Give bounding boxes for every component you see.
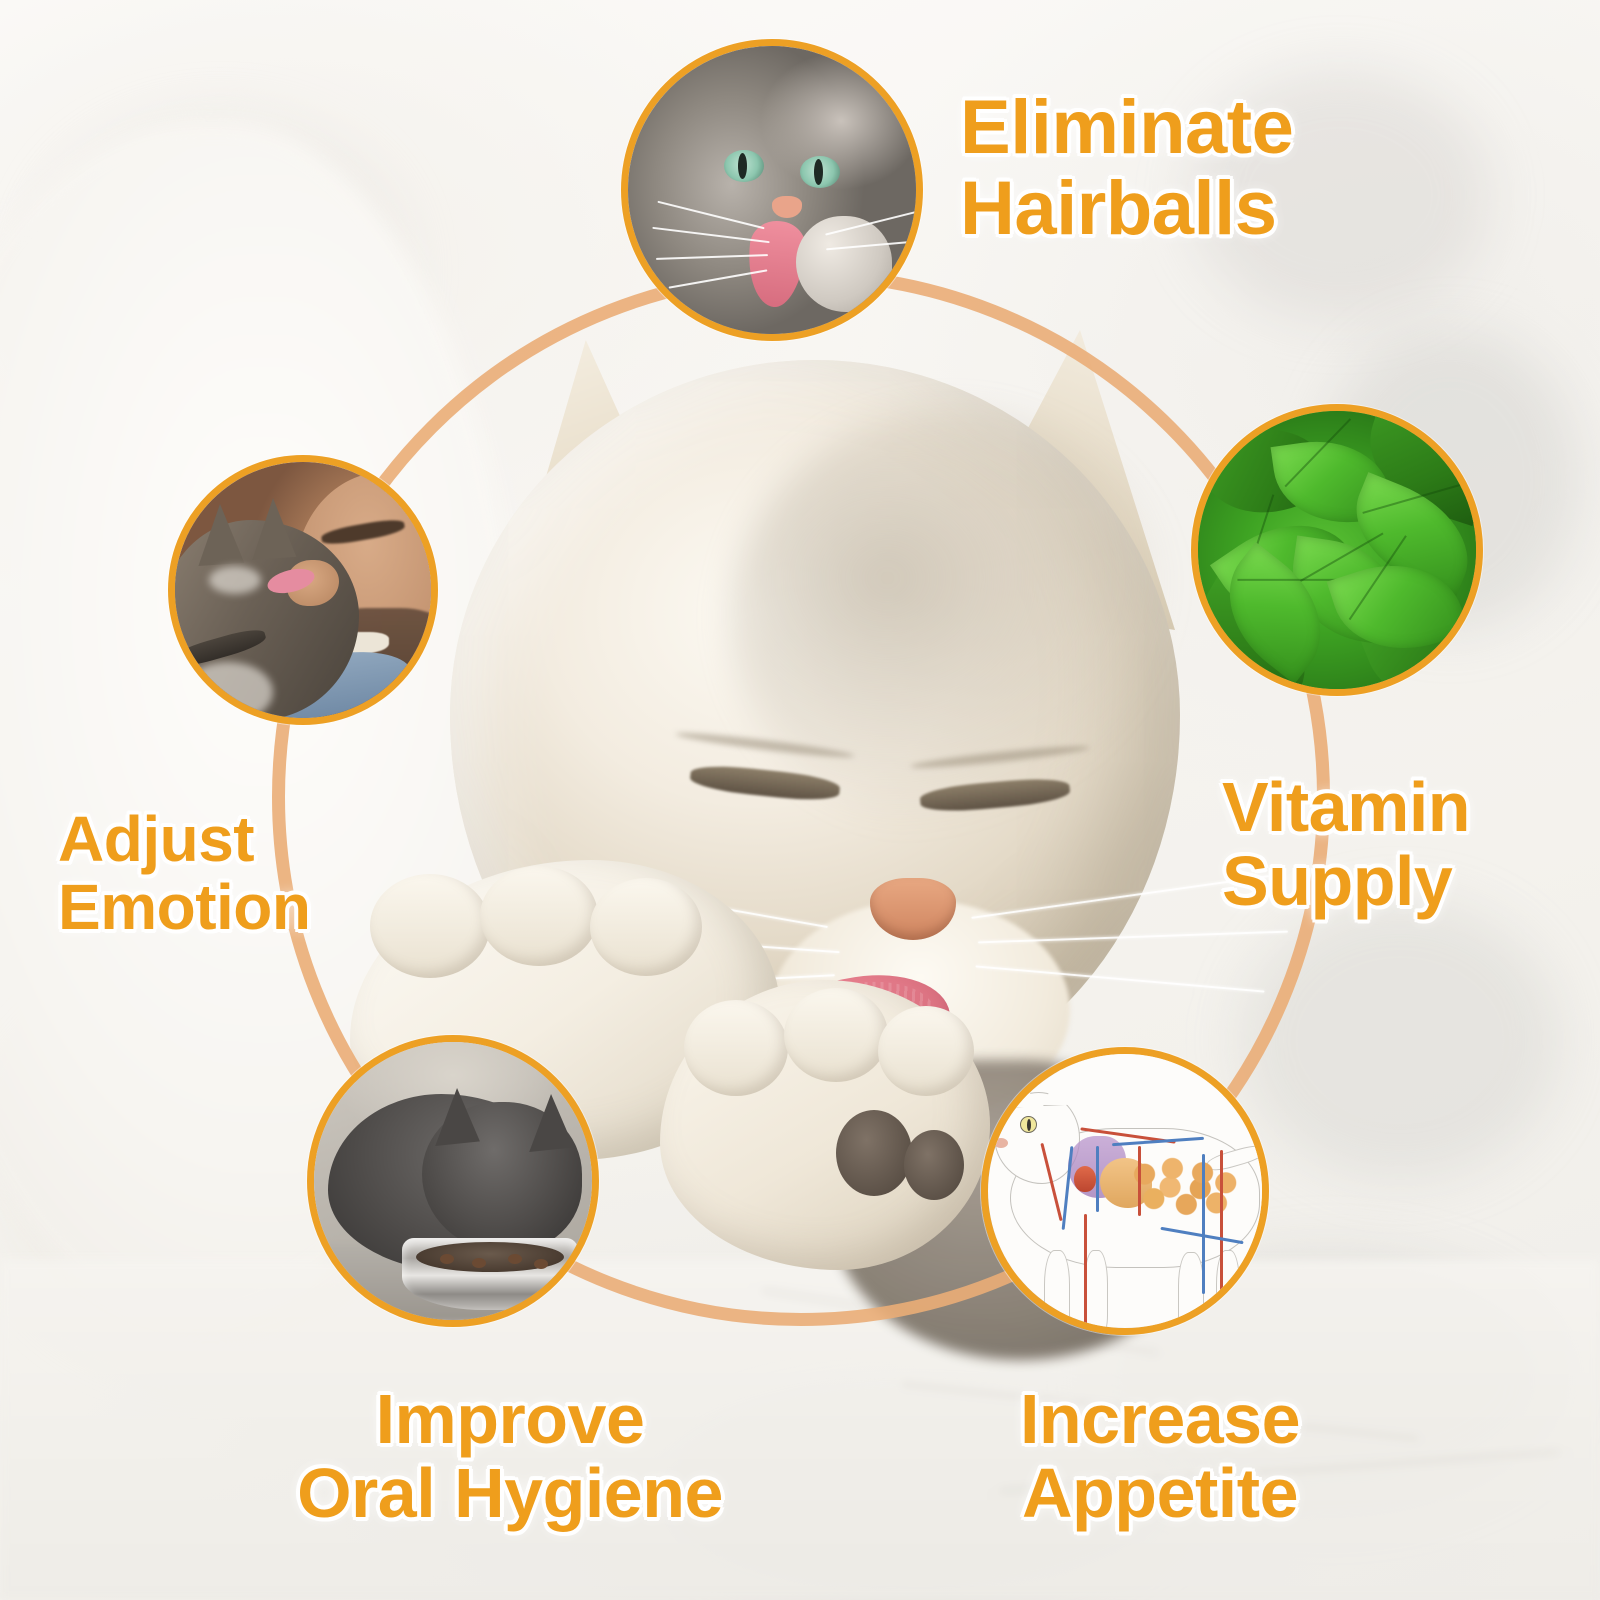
infographic-canvas: Eliminate Hairballs Vitamin Supply Incre…	[0, 0, 1600, 1600]
cat-eating-photo	[314, 1042, 592, 1320]
benefit-bubble-hairballs[interactable]	[621, 39, 923, 341]
benefit-bubble-appetite[interactable]	[981, 1047, 1269, 1335]
cat-grooming-photo	[628, 46, 916, 334]
cat-anatomy-diagram	[988, 1054, 1262, 1328]
benefit-label-appetite: Increase Appetite	[950, 1382, 1370, 1530]
benefit-bubble-emotion[interactable]	[168, 455, 438, 725]
benefit-label-emotion: Adjust Emotion	[58, 806, 418, 942]
cat-and-owner-photo	[175, 462, 431, 718]
benefit-label-hairballs: Eliminate Hairballs	[960, 88, 1380, 249]
benefit-label-vitamin: Vitamin Supply	[1222, 770, 1600, 918]
benefit-bubble-oral[interactable]	[307, 1035, 599, 1327]
benefit-bubble-vitamin[interactable]	[1191, 404, 1483, 696]
mint-leaves-photo	[1198, 411, 1476, 689]
benefit-label-oral: Improve Oral Hygiene	[260, 1382, 760, 1530]
